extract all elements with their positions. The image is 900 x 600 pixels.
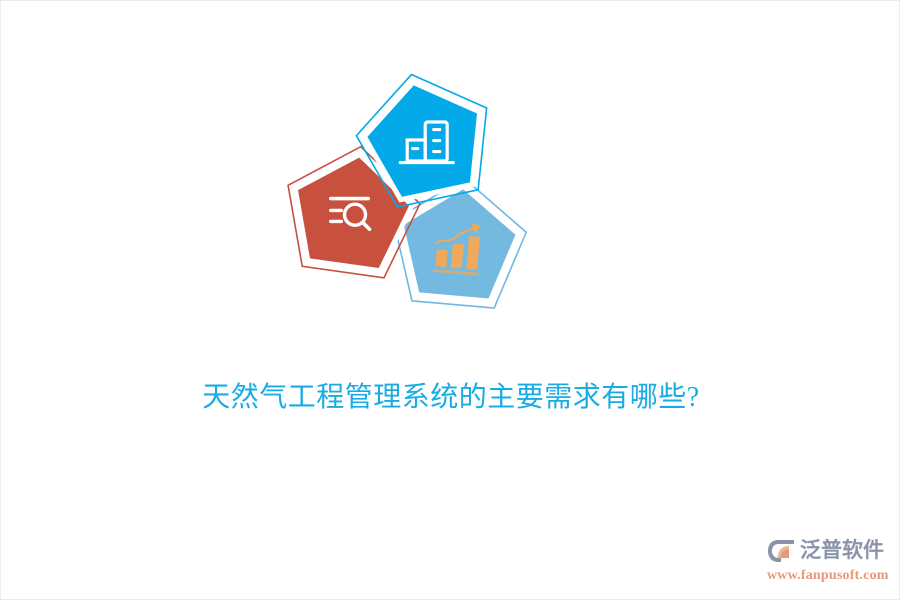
fanpu-swoosh-logo-icon xyxy=(767,537,797,565)
page-title: 天然气工程管理系统的主要需求有哪些? xyxy=(1,378,900,418)
brand-name: 泛普软件 xyxy=(800,538,884,564)
pentagon-cluster-graphic xyxy=(271,66,551,321)
brand-logo-row: 泛普软件 xyxy=(767,535,893,567)
brand-logo[interactable]: 泛普软件 www.fanpusoft.com xyxy=(767,535,893,587)
brand-website-url: www.fanpusoft.com xyxy=(767,568,893,584)
page-canvas: 天然气工程管理系统的主要需求有哪些? 泛普软件 www.fanpusoft.co… xyxy=(0,0,900,600)
